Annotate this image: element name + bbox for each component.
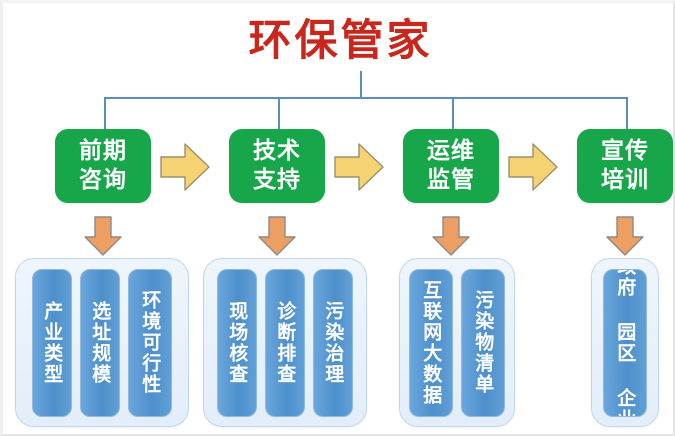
stage-box-4-line-1: 宣传 [601, 137, 649, 166]
stage-box-4[interactable]: 宣传 培训 [577, 129, 673, 203]
stage-box-4-line-2: 培训 [601, 166, 649, 195]
stage-box-1[interactable]: 前期 咨询 [55, 129, 151, 203]
detail-item-4-1[interactable]: 政府 园区 企业 [603, 269, 647, 417]
connector-drop-3 [452, 97, 454, 129]
flow-arrow-right-1 [159, 141, 211, 193]
stage-box-2-line-1: 技术 [253, 137, 301, 166]
down-arrow-4 [605, 215, 645, 257]
stage-box-2[interactable]: 技术 支持 [229, 129, 325, 203]
detail-item-3-1[interactable]: 互联网大数据 [409, 269, 453, 417]
detail-item-2-2[interactable]: 诊断排查 [265, 269, 305, 417]
stage-box-1-line-2: 咨询 [79, 166, 127, 195]
detail-item-1-2[interactable]: 选址规模 [80, 269, 120, 417]
detail-item-1-3[interactable]: 环境可行性 [128, 269, 172, 417]
detail-group-2: 现场核查 诊断排查 污染治理 [203, 258, 367, 427]
stage-box-3-line-1: 运维 [427, 137, 475, 166]
stage-box-3[interactable]: 运维 监管 [403, 129, 499, 203]
connector-drop-2 [278, 97, 280, 129]
down-arrow-3 [431, 215, 471, 257]
connector-drop-4 [626, 97, 628, 129]
down-arrow-2 [257, 215, 297, 257]
detail-item-3-2[interactable]: 污染物清单 [461, 269, 505, 417]
detail-item-1-1[interactable]: 产业类型 [32, 269, 72, 417]
flow-arrow-right-3 [507, 141, 559, 193]
stage-box-1-line-1: 前期 [79, 137, 127, 166]
page-title: 环保管家 [3, 19, 675, 64]
down-arrow-1 [83, 215, 123, 257]
stage-box-3-line-2: 监管 [427, 166, 475, 195]
detail-group-1: 产业类型 选址规模 环境可行性 [15, 258, 189, 427]
connector-horizontal-line [104, 97, 628, 99]
title-connector-stub [360, 71, 362, 98]
detail-group-4: 政府 园区 企业 [591, 258, 659, 427]
diagram-canvas: 环保管家 前期 咨询 技术 支持 运维 监管 宣传 培训 [0, 0, 675, 436]
connector-drop-1 [104, 97, 106, 129]
stage-box-2-line-2: 支持 [253, 166, 301, 195]
detail-item-2-1[interactable]: 现场核查 [217, 269, 257, 417]
flow-arrow-right-2 [333, 141, 385, 193]
detail-group-3: 互联网大数据 污染物清单 [399, 258, 515, 427]
detail-item-2-3[interactable]: 污染治理 [313, 269, 353, 417]
